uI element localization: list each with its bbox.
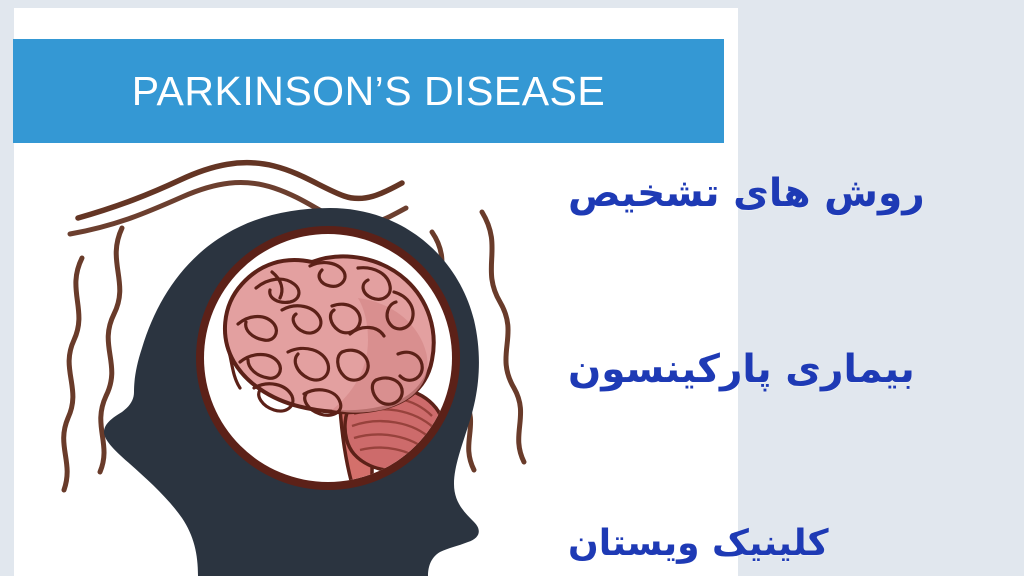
slide-canvas: PARKINSON’S DISEASE [0,0,1024,576]
head-brain-illustration [30,150,630,576]
page-title: PARKINSON’S DISEASE [132,68,606,115]
title-banner: PARKINSON’S DISEASE [13,39,724,143]
farsi-line-1: روش های تشخیص [560,170,925,219]
farsi-line-2: بیماری پارکینسون [560,346,915,395]
farsi-text-block: روش های تشخیص بیماری پارکینسون کلینیک وی… [560,170,1016,570]
farsi-line-3: کلینیک ویستان [560,521,829,566]
